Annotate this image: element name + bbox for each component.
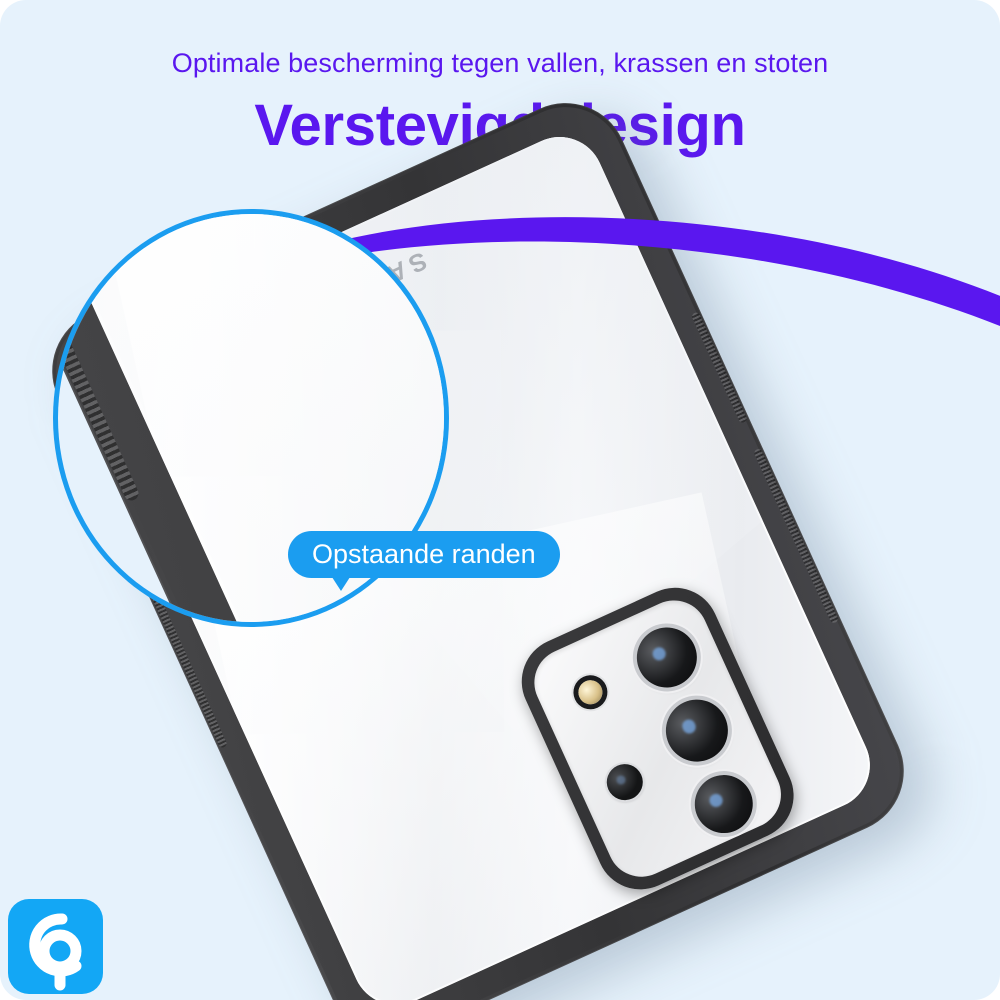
camera-lens-3 — [685, 766, 762, 843]
brand-logo — [8, 899, 103, 994]
camera-lens-1 — [627, 618, 706, 697]
camera-lens-2 — [656, 690, 738, 772]
callout-badge: Opstaande randen — [288, 531, 560, 578]
product-feature-banner: Optimale bescherming tegen vallen, krass… — [0, 0, 1000, 1000]
camera-lens-small — [601, 758, 649, 806]
camera-flash — [575, 676, 607, 708]
subheadline: Optimale bescherming tegen vallen, krass… — [0, 48, 1000, 79]
brand-logo-icon — [8, 899, 103, 994]
